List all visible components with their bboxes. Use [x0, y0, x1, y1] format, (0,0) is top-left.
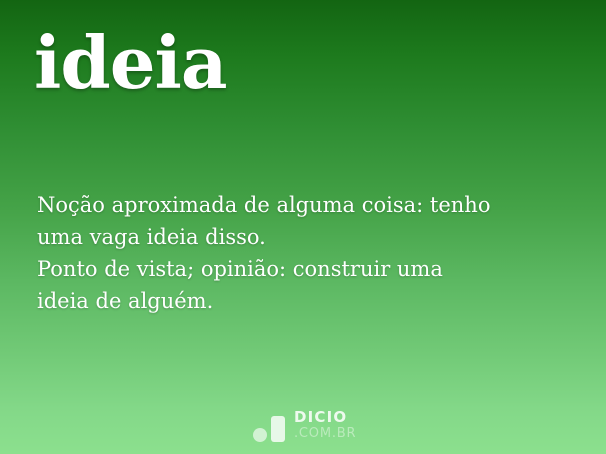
definition-line: Noção aproximada de alguma coisa: tenho — [37, 189, 577, 221]
definition-line: ideia de alguém. — [37, 285, 577, 317]
dicio-logo-mark-icon — [253, 414, 286, 442]
page-title: ideia — [34, 22, 227, 104]
definition-line: Ponto de vista; opinião: construir uma — [37, 253, 577, 285]
dicio-logo-text: DICIO .COM.BR — [294, 410, 356, 442]
logo-circle-shape — [253, 428, 267, 442]
logo-bar-shape — [271, 416, 285, 442]
definition-line: uma vaga ideia disso. — [37, 221, 577, 253]
dictionary-card: ideia Noção aproximada de alguma coisa: … — [0, 0, 606, 454]
definition-block: Noção aproximada de alguma coisa: tenho … — [37, 189, 577, 317]
brand-domain: .COM.BR — [294, 426, 356, 441]
dicio-logo[interactable]: DICIO .COM.BR — [253, 412, 356, 442]
brand-name: DICIO — [294, 410, 356, 425]
